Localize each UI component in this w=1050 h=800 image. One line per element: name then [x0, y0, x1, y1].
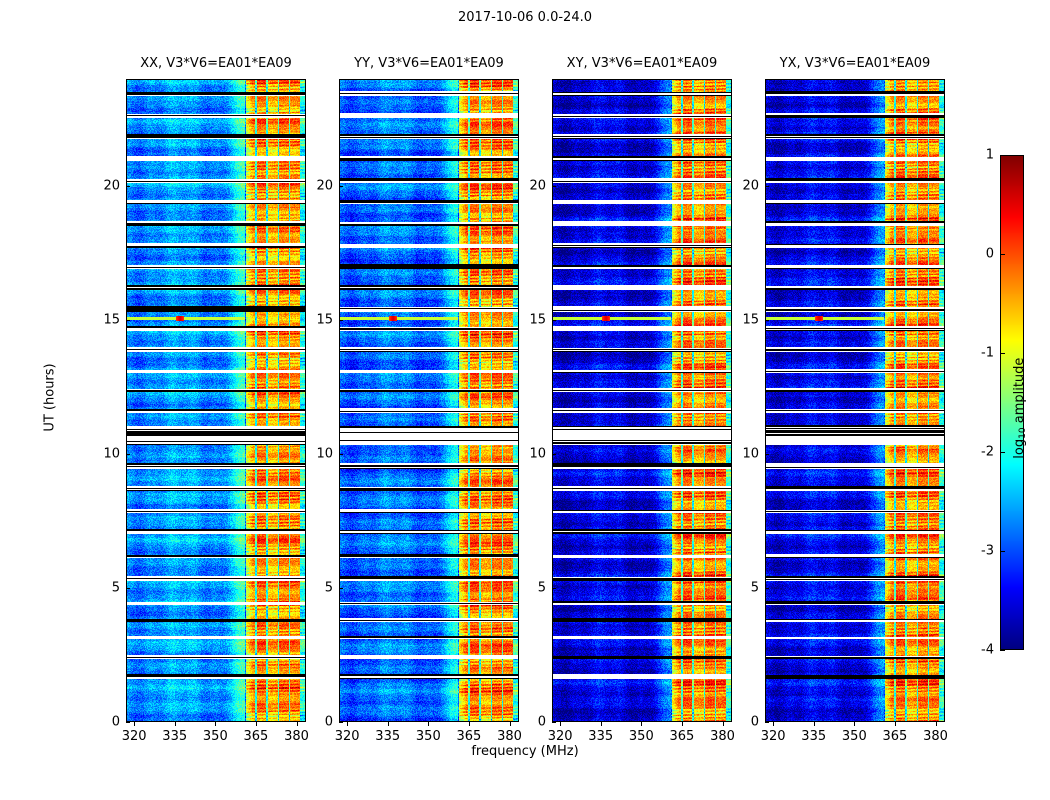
x-tick-mark [510, 722, 511, 726]
x-tick-label: 365 [244, 729, 269, 744]
y-tick-mark [765, 320, 769, 321]
x-tick-label: 350 [629, 729, 654, 744]
y-tick-label: 5 [299, 581, 333, 596]
x-tick-mark [469, 722, 470, 726]
y-tick-mark [765, 186, 769, 187]
x-axis-label: frequency (MHz) [0, 744, 1050, 759]
x-tick-label: 380 [923, 729, 948, 744]
colorbar-tick-mark [1000, 551, 1005, 552]
x-tick-mark [641, 722, 642, 726]
x-tick-label: 350 [203, 729, 228, 744]
colorbar-tick-mark [1000, 452, 1005, 453]
x-tick-mark [256, 722, 257, 726]
y-tick-mark [552, 588, 556, 589]
waterfall-image-xy [552, 79, 732, 722]
y-tick-label: 20 [299, 179, 333, 194]
waterfall-panel-xy: XY, V3*V6=EA01*EA09 [552, 79, 732, 722]
x-tick-label: 335 [162, 729, 187, 744]
y-tick-mark [339, 320, 343, 321]
x-tick-mark [388, 722, 389, 726]
y-tick-label: 15 [86, 313, 120, 328]
y-tick-mark [339, 722, 343, 723]
y-tick-mark [552, 186, 556, 187]
x-tick-mark [601, 722, 602, 726]
y-tick-mark [126, 454, 130, 455]
x-tick-mark [215, 722, 216, 726]
panel-title-yx: YX, V3*V6=EA01*EA09 [765, 56, 945, 71]
colorbar-tick-mark [1000, 353, 1005, 354]
y-tick-label: 15 [725, 313, 759, 328]
y-tick-mark [126, 320, 130, 321]
x-tick-mark [773, 722, 774, 726]
x-tick-label: 380 [284, 729, 309, 744]
y-tick-label: 0 [512, 715, 546, 730]
y-axis-label: UT (hours) [43, 318, 58, 478]
x-tick-mark [814, 722, 815, 726]
colorbar-tick-label: -4 [958, 643, 994, 658]
y-tick-label: 5 [512, 581, 546, 596]
y-tick-label: 0 [299, 715, 333, 730]
waterfall-image-yy [339, 79, 519, 722]
waterfall-panel-yy: YY, V3*V6=EA01*EA09 [339, 79, 519, 722]
panel-title-xx: XX, V3*V6=EA01*EA09 [126, 56, 306, 71]
colorbar-tick-label: -1 [958, 346, 994, 361]
y-tick-label: 5 [86, 581, 120, 596]
x-tick-mark [347, 722, 348, 726]
waterfall-panel-yx: YX, V3*V6=EA01*EA09 [765, 79, 945, 722]
colorbar-label: log10 amplitude [1012, 298, 1028, 518]
x-tick-label: 335 [375, 729, 400, 744]
y-tick-mark [765, 588, 769, 589]
panel-title-xy: XY, V3*V6=EA01*EA09 [552, 56, 732, 71]
y-tick-mark [552, 722, 556, 723]
colorbar-tick-label: 0 [958, 247, 994, 262]
colorbar-tick-mark [1000, 254, 1005, 255]
y-tick-mark [552, 454, 556, 455]
x-tick-label: 320 [335, 729, 360, 744]
x-tick-label: 365 [883, 729, 908, 744]
y-tick-label: 5 [725, 581, 759, 596]
x-tick-label: 335 [801, 729, 826, 744]
y-tick-label: 10 [725, 447, 759, 462]
waterfall-panel-xx: XX, V3*V6=EA01*EA09 [126, 79, 306, 722]
x-tick-label: 320 [761, 729, 786, 744]
waterfall-image-xx [126, 79, 306, 722]
colorbar-label-subscript: 10 [1018, 427, 1028, 438]
y-tick-mark [339, 186, 343, 187]
x-tick-mark [560, 722, 561, 726]
x-tick-label: 365 [457, 729, 482, 744]
y-tick-mark [339, 454, 343, 455]
y-tick-label: 10 [86, 447, 120, 462]
y-tick-mark [765, 454, 769, 455]
figure-suptitle: 2017-10-06 0.0-24.0 [0, 10, 1050, 25]
colorbar-tick-label: 1 [958, 148, 994, 163]
x-tick-mark [297, 722, 298, 726]
x-tick-mark [428, 722, 429, 726]
figure-canvas: 2017-10-06 0.0-24.0 XX, V3*V6=EA01*EA093… [0, 0, 1050, 800]
y-tick-mark [126, 722, 130, 723]
y-tick-label: 20 [512, 179, 546, 194]
x-tick-label: 380 [710, 729, 735, 744]
x-tick-label: 320 [548, 729, 573, 744]
y-tick-label: 20 [86, 179, 120, 194]
y-tick-label: 10 [299, 447, 333, 462]
y-tick-mark [126, 588, 130, 589]
y-tick-label: 20 [725, 179, 759, 194]
x-tick-mark [134, 722, 135, 726]
x-tick-mark [895, 722, 896, 726]
colorbar-label-base: log [1012, 439, 1027, 459]
colorbar-label-tail: amplitude [1012, 358, 1027, 428]
x-tick-mark [854, 722, 855, 726]
y-tick-mark [339, 588, 343, 589]
colorbar-tick-mark [1000, 155, 1005, 156]
y-tick-label: 0 [86, 715, 120, 730]
colorbar-tick-mark [1000, 650, 1005, 651]
x-tick-label: 335 [588, 729, 613, 744]
x-tick-mark [682, 722, 683, 726]
x-tick-label: 320 [122, 729, 147, 744]
x-tick-label: 350 [416, 729, 441, 744]
y-tick-label: 0 [725, 715, 759, 730]
panel-title-yy: YY, V3*V6=EA01*EA09 [339, 56, 519, 71]
y-tick-mark [552, 320, 556, 321]
y-tick-label: 10 [512, 447, 546, 462]
x-tick-label: 380 [497, 729, 522, 744]
y-tick-mark [765, 722, 769, 723]
waterfall-image-yx [765, 79, 945, 722]
x-tick-mark [723, 722, 724, 726]
x-tick-mark [175, 722, 176, 726]
x-tick-mark [936, 722, 937, 726]
x-tick-label: 365 [670, 729, 695, 744]
colorbar-tick-label: -3 [958, 544, 994, 559]
x-tick-label: 350 [842, 729, 867, 744]
y-tick-label: 15 [299, 313, 333, 328]
y-tick-mark [126, 186, 130, 187]
colorbar-tick-label: -2 [958, 445, 994, 460]
y-tick-label: 15 [512, 313, 546, 328]
